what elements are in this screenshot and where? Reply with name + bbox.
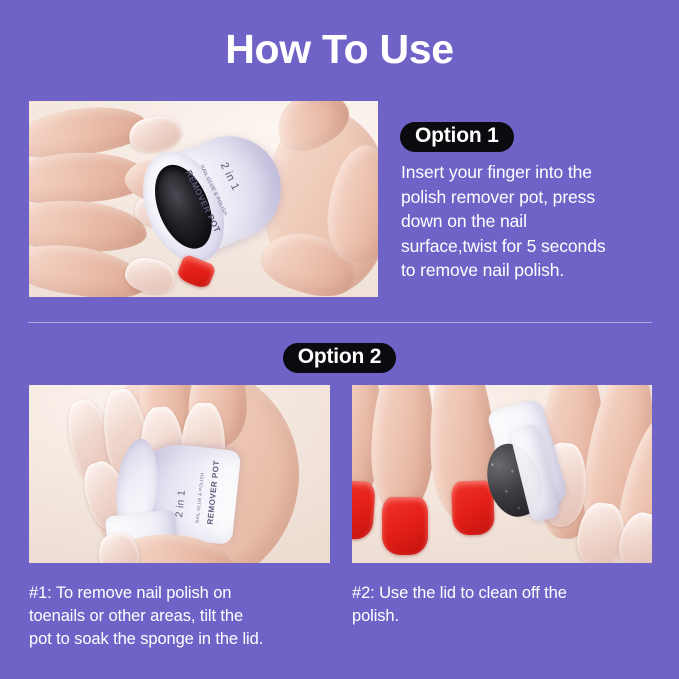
option1-badge-label: Option 1 [400, 122, 514, 152]
option1-instruction: Insert your finger into the polish remov… [401, 160, 663, 283]
option1-badge: Option 1 [400, 122, 514, 152]
option2-left-photo: REMOVER POT NAIL GLUE & POLISH 2 in 1 [29, 385, 330, 563]
option2-badge-label: Option 2 [283, 343, 397, 373]
option2-badge: Option 2 [0, 343, 679, 373]
option2-left-caption: #1: To remove nail polish on toenails or… [29, 582, 334, 651]
how-to-use-infographic: How To Use REMO [0, 0, 679, 679]
option2-right-caption: #2: Use the lid to clean off the polish. [352, 582, 652, 628]
option1-photo: REMOVER POT NAIL GLUE & POLISH 2 in 1 [29, 101, 378, 297]
section-divider [28, 322, 652, 323]
option2-right-photo [352, 385, 652, 563]
page-title: How To Use [0, 24, 679, 74]
